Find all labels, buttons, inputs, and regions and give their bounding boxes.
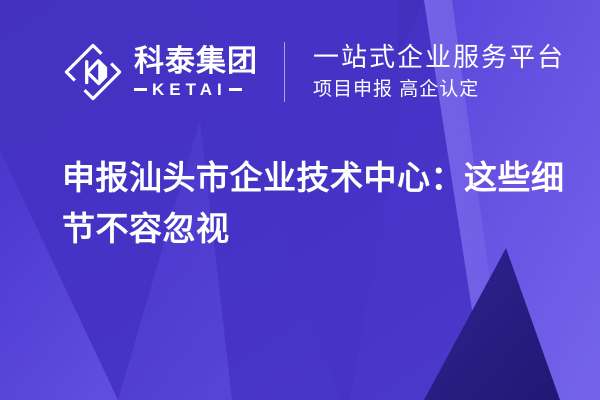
vertical-divider-icon bbox=[284, 42, 285, 102]
tagline-main: 一站式企业服务平台 bbox=[313, 42, 565, 73]
promo-banner: 科泰集团 KETAI 一站式企业服务平台 项目申报 高企认定 申报汕头市企业技术… bbox=[0, 0, 600, 400]
brand-name-en-row: KETAI bbox=[134, 81, 258, 98]
dash-left-icon bbox=[134, 88, 147, 91]
brand-logo[interactable]: 科泰集团 KETAI bbox=[62, 36, 258, 108]
banner-header: 科泰集团 KETAI 一站式企业服务平台 项目申报 高企认定 bbox=[62, 36, 565, 108]
brand-name-cn: 科泰集团 bbox=[134, 46, 258, 78]
tagline-sub: 项目申报 高企认定 bbox=[313, 78, 565, 102]
brand-wordmark: 科泰集团 KETAI bbox=[134, 41, 258, 103]
ketai-diamond-kd-monogram-icon bbox=[62, 41, 124, 103]
brand-name-en: KETAI bbox=[152, 81, 227, 98]
dash-right-icon bbox=[229, 88, 242, 91]
page-title: 申报汕头市企业技术中心：这些细节不容忽视 bbox=[62, 152, 572, 254]
tagline: 一站式企业服务平台 项目申报 高企认定 bbox=[313, 38, 565, 106]
